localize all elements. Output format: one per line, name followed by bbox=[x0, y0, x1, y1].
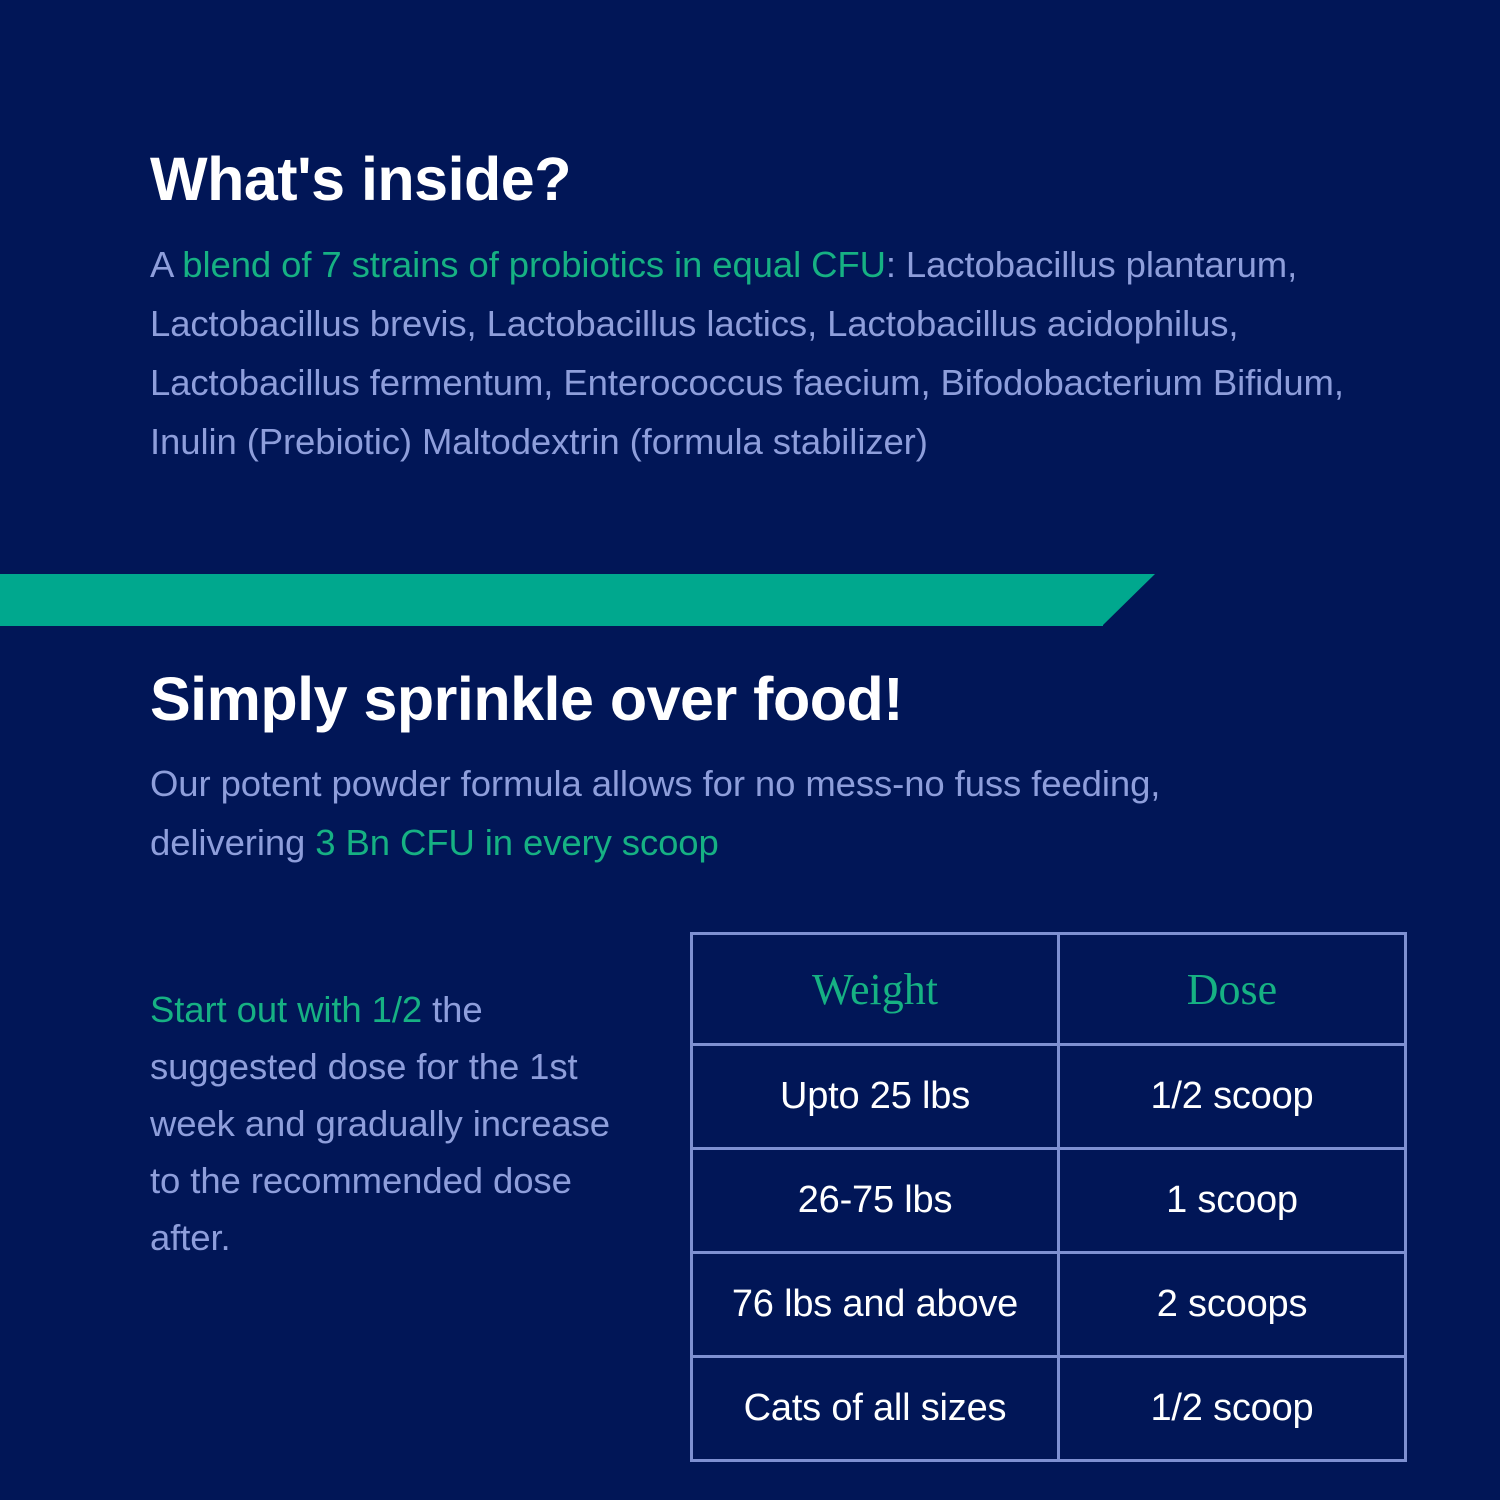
product-info-panel: What's inside? A blend of 7 strains of p… bbox=[0, 0, 1500, 1500]
cell-weight: 26-75 lbs bbox=[692, 1149, 1059, 1253]
cell-dose: 1 scoop bbox=[1059, 1149, 1406, 1253]
sprinkle-copy-accent: 3 Bn CFU in every scoop bbox=[315, 822, 718, 863]
cell-dose: 1/2 scoop bbox=[1059, 1045, 1406, 1149]
table-row: Upto 25 lbs 1/2 scoop bbox=[692, 1045, 1406, 1149]
ingredients-lead-accent: blend of 7 strains of probiotics in equa… bbox=[182, 244, 886, 285]
table-row: 76 lbs and above 2 scoops bbox=[692, 1253, 1406, 1357]
cell-weight: Cats of all sizes bbox=[692, 1357, 1059, 1461]
sprinkle-section: Simply sprinkle over food! Our potent po… bbox=[150, 668, 1350, 872]
cell-weight: 76 lbs and above bbox=[692, 1253, 1059, 1357]
sprinkle-paragraph: Our potent powder formula allows for no … bbox=[150, 754, 1310, 872]
cell-dose: 1/2 scoop bbox=[1059, 1357, 1406, 1461]
ingredients-lead-plain: A bbox=[150, 244, 182, 285]
table-header-dose: Dose bbox=[1059, 934, 1406, 1045]
table-row: Cats of all sizes 1/2 scoop bbox=[692, 1357, 1406, 1461]
cell-dose: 2 scoops bbox=[1059, 1253, 1406, 1357]
dosage-section: Start out with 1/2 the suggested dose fo… bbox=[0, 932, 1500, 1472]
dosage-note: Start out with 1/2 the suggested dose fo… bbox=[150, 981, 620, 1266]
sprinkle-heading: Simply sprinkle over food! bbox=[150, 668, 1350, 730]
ingredients-heading: What's inside? bbox=[150, 148, 1360, 210]
divider-bar bbox=[0, 574, 1103, 626]
dosage-note-accent: Start out with 1/2 bbox=[150, 989, 422, 1030]
divider-arrow-point-icon bbox=[1102, 574, 1155, 626]
table-row: 26-75 lbs 1 scoop bbox=[692, 1149, 1406, 1253]
table-header-weight: Weight bbox=[692, 934, 1059, 1045]
ingredients-paragraph: A blend of 7 strains of probiotics in eq… bbox=[150, 235, 1365, 471]
section-divider bbox=[0, 574, 1160, 626]
cell-weight: Upto 25 lbs bbox=[692, 1045, 1059, 1149]
table-header-row: Weight Dose bbox=[692, 934, 1406, 1045]
ingredients-section: What's inside? A blend of 7 strains of p… bbox=[150, 148, 1360, 471]
dosage-table: Weight Dose Upto 25 lbs 1/2 scoop 26-75 … bbox=[690, 932, 1407, 1462]
